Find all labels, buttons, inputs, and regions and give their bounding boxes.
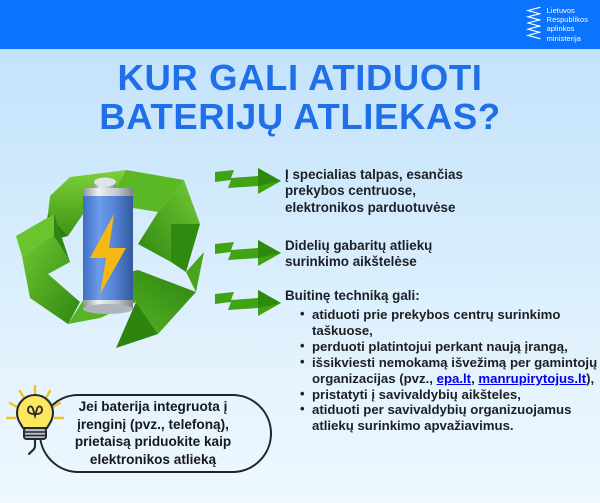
page-title: KUR GALI ATIDUOTI BATERIJŲ ATLIEKAS?	[0, 58, 600, 136]
battery-recycling-icon	[8, 152, 223, 367]
item2-line-2: naują įrangą,	[486, 339, 567, 354]
title-line-2: BATERIJŲ ATLIEKAS?	[0, 97, 600, 136]
header-bar: Lietuvos Respublikos aplinkos ministerij…	[0, 0, 600, 49]
green-arrow-right-icon	[214, 238, 282, 268]
block1-line-1: Į specialias talpas, esančias	[285, 167, 597, 183]
green-arrow-right-icon	[214, 166, 282, 196]
block3-heading: Buitinę techniką gali:	[285, 288, 597, 304]
item2-line-1: perduoti platintojui perkant	[312, 339, 483, 354]
title-line-1: KUR GALI ATIDUOTI	[0, 58, 600, 97]
ministry-chevron-logo-icon	[526, 6, 542, 43]
list-item: atiduoti per savivaldybių organizuojamus…	[299, 402, 599, 434]
item4-line-1: pristatyti į savivaldybių aikšteles,	[312, 387, 521, 402]
link-epa-lt[interactable]: epa.lt	[437, 371, 471, 386]
item3-prefix: (pvz.,	[399, 371, 436, 386]
item1-line-1: atiduoti prie prekybos centrų	[312, 307, 494, 322]
callout-line-1: Jei baterija integruota į	[28, 398, 278, 416]
item5-line-3: surinkimo apvažiavimus.	[357, 418, 513, 433]
list-item: išsikviesti nemokamą išvežimą per gamint…	[299, 355, 599, 387]
logo-line-2: Respublikos	[547, 15, 588, 24]
callout-text: Jei baterija integruota į įrenginį (pvz.…	[28, 398, 278, 468]
infographic-poster: Lietuvos Respublikos aplinkos ministerij…	[0, 0, 600, 503]
logo-line-1: Lietuvos	[547, 6, 588, 15]
ministry-logo: Lietuvos Respublikos aplinkos ministerij…	[526, 6, 588, 43]
callout-line-3: prietaisą priduokite kaip	[28, 433, 278, 451]
link-manrupirytojus-lt[interactable]: manrupirytojus.lt	[478, 371, 586, 386]
callout-line-4: elektronikos atlieką	[28, 451, 278, 469]
list-item: atiduoti prie prekybos centrų surinkimo …	[299, 307, 599, 339]
list-item: pristatyti į savivaldybių aikšteles,	[299, 387, 599, 403]
block1-line-3: elektronikos parduotuvėse	[285, 200, 597, 216]
block1-line-2: prekybos centruose,	[285, 183, 597, 199]
item5-line-1: atiduoti per savivaldybių	[312, 402, 467, 417]
household-appliances-list: atiduoti prie prekybos centrų surinkimo …	[299, 307, 599, 434]
block2-line-2: surinkimo aikštelėse	[285, 254, 597, 270]
green-arrow-right-icon	[214, 288, 282, 318]
item3-suffix: ),	[586, 371, 594, 386]
item3-line-1: išsikviesti nemokamą išvežimą	[312, 355, 506, 370]
list-item: perduoti platintojui perkant naują įrang…	[299, 339, 599, 355]
item3-line-3: (pvz., epa.lt, manrupirytojus.lt),	[399, 371, 594, 386]
info-block-special-containers: Į specialias talpas, esančias prekybos c…	[285, 167, 597, 216]
logo-line-3: aplinkos	[547, 24, 588, 33]
ministry-logo-text: Lietuvos Respublikos aplinkos ministerij…	[547, 6, 588, 43]
block2-line-1: Didelių gabaritų atliekų	[285, 238, 597, 254]
info-block-household-appliances: Buitinę techniką gali:	[285, 288, 597, 304]
info-block-bulky-waste-sites: Didelių gabaritų atliekų surinkimo aikšt…	[285, 238, 597, 271]
logo-line-4: ministerija	[547, 34, 588, 43]
callout-line-2: įrenginį (pvz., telefoną),	[28, 416, 278, 434]
